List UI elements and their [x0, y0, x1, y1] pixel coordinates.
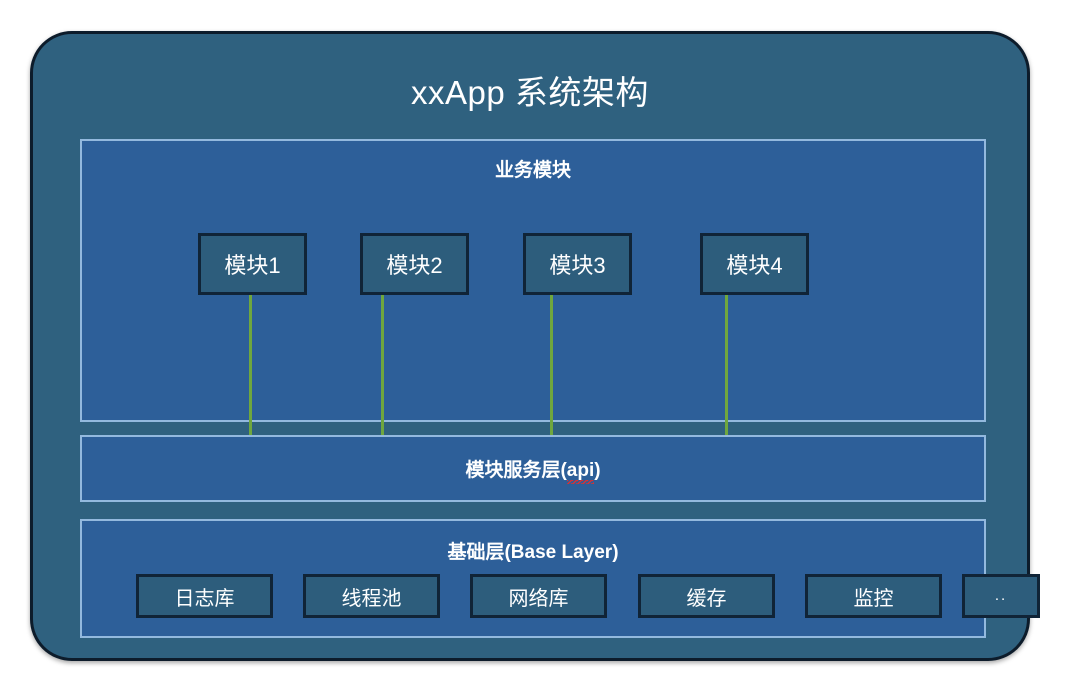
- api-title-prefix: 模块服务层(: [465, 460, 566, 481]
- module-box-label: 模块1: [224, 248, 280, 280]
- connector-line-module-1: [249, 295, 252, 435]
- base-component-label: 监控: [854, 582, 894, 611]
- api-service-layer-title: 模块服务层(api): [82, 461, 984, 480]
- base-component-log-library[interactable]: 日志库: [136, 574, 273, 618]
- architecture-diagram: xxApp 系统架构 业务模块 模块1 模块2 模块3 模块4 模块服务层(ap…: [0, 0, 1080, 691]
- module-box-4[interactable]: 模块4: [700, 233, 809, 295]
- base-component-label: 线程池: [342, 582, 402, 611]
- base-component-cache[interactable]: 缓存: [638, 574, 775, 618]
- api-title-misspelled-word: api: [567, 461, 594, 480]
- module-box-label: 模块4: [726, 248, 782, 280]
- base-component-thread-pool[interactable]: 线程池: [303, 574, 440, 618]
- page-title: xxApp 系统架构: [33, 76, 1027, 109]
- connector-line-module-4: [725, 295, 728, 435]
- connector-line-module-3: [550, 295, 553, 435]
- base-component-network-library[interactable]: 网络库: [470, 574, 607, 618]
- base-component-label: ..: [995, 591, 1007, 602]
- business-layer-title: 业务模块: [82, 161, 984, 180]
- module-box-label: 模块3: [549, 248, 605, 280]
- base-component-more[interactable]: ..: [962, 574, 1040, 618]
- base-component-label: 网络库: [509, 582, 569, 611]
- module-box-3[interactable]: 模块3: [523, 233, 632, 295]
- base-component-monitoring[interactable]: 监控: [805, 574, 942, 618]
- api-service-layer-panel: 模块服务层(api): [80, 435, 986, 502]
- module-box-2[interactable]: 模块2: [360, 233, 469, 295]
- base-layer-title: 基础层(Base Layer): [82, 543, 984, 562]
- connector-line-module-2: [381, 295, 384, 435]
- base-component-label: 日志库: [175, 582, 235, 611]
- base-layer-panel: 基础层(Base Layer) 日志库 线程池 网络库 缓存 监控 ..: [80, 519, 986, 638]
- system-architecture-card: xxApp 系统架构 业务模块 模块1 模块2 模块3 模块4 模块服务层(ap…: [30, 31, 1030, 661]
- business-layer-panel: 业务模块 模块1 模块2 模块3 模块4: [80, 139, 986, 422]
- module-box-1[interactable]: 模块1: [198, 233, 307, 295]
- base-component-label: 缓存: [687, 582, 727, 611]
- api-title-suffix: ): [594, 460, 600, 481]
- module-box-label: 模块2: [386, 248, 442, 280]
